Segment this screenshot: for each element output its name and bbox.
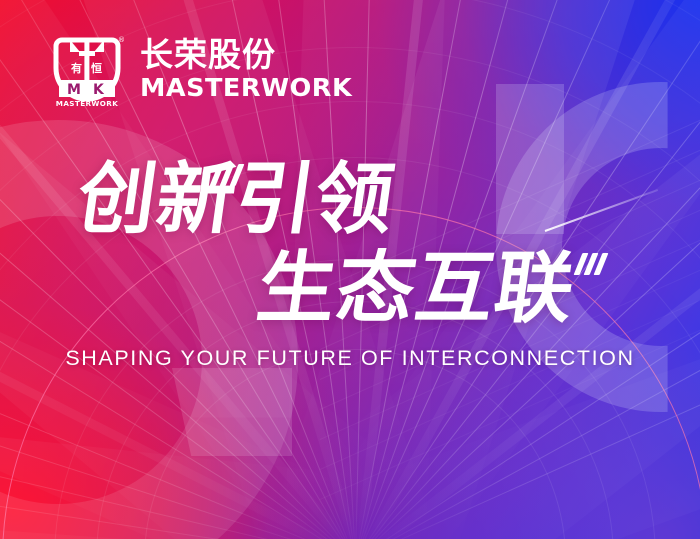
brand-name-english: MASTERWORK xyxy=(140,75,352,100)
svg-text:M: M xyxy=(67,82,81,98)
svg-text:®: ® xyxy=(118,36,125,44)
brand-name-chinese: 长荣股份 xyxy=(140,38,348,71)
svg-text:MASTERWORK: MASTERWORK xyxy=(56,99,118,108)
svg-text:K: K xyxy=(93,82,105,98)
decorative-ring-lower-left-tab xyxy=(172,368,292,456)
svg-text:有: 有 xyxy=(71,61,82,75)
brand-banner: 有 恒 M K MASTERWORK ® 长荣股份 MASTERWORK xyxy=(0,0,700,539)
brand-name-group: 长荣股份 MASTERWORK xyxy=(140,38,348,100)
brand-lockup: 有 恒 M K MASTERWORK ® 长荣股份 MASTERWORK xyxy=(48,30,348,108)
masterwork-mk-emblem-icon: 有 恒 M K MASTERWORK ® xyxy=(48,30,126,108)
decorative-ring-upper-right-tab xyxy=(496,84,564,234)
background-grid-lines xyxy=(320,249,700,539)
tagline: SHAPING YOUR FUTURE OF INTERCONNECTION xyxy=(0,346,700,371)
svg-text:恒: 恒 xyxy=(91,61,102,75)
